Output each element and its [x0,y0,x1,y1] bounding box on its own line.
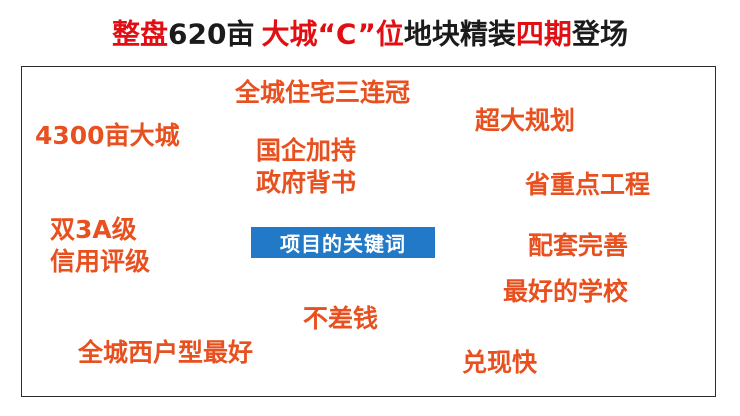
keyword-best-school: 最好的学校 [503,277,628,307]
title-segment-1: 整盘 [112,18,168,51]
keyword-provincial-key-project: 省重点工程 [525,170,650,200]
keyword-line-2: 信用评级 [50,246,150,278]
title-segment-4: 位 [376,18,404,51]
project-keywords-chip-label: 项目的关键词 [280,228,406,257]
poster-canvas: 整盘620亩大城“C”位地块精装四期登场 全城住宅三连冠 4300亩大城 超大规… [0,0,740,416]
title-segment-2: 620亩 [168,18,254,51]
title-segment-7: 登场 [572,18,628,51]
keyword-line-1: 双3A级 [50,214,150,246]
keyword-double-3a-credit-rating: 双3A级 信用评级 [50,214,150,278]
title-segment-6: 四期 [516,18,572,51]
page-title: 整盘620亩大城“C”位地块精装四期登场 [0,13,740,55]
keyword-fast-delivery: 兑现快 [462,348,537,378]
keyword-board: 全城住宅三连冠 4300亩大城 超大规划 国企加持 政府背书 省重点工程 双3A… [21,66,716,397]
keyword-best-west-facing-units: 全城西户型最好 [78,338,253,368]
title-segment-3: 大城“C” [262,18,376,51]
keyword-state-owned-enterprise-backing: 国企加持 政府背书 [256,135,356,199]
keyword-super-large-planning: 超大规划 [475,106,575,136]
keyword-complete-amenities: 配套完善 [528,231,628,261]
keyword-not-short-of-money: 不差钱 [303,304,378,334]
keyword-4300-mu-big-city: 4300亩大城 [35,121,180,151]
keyword-line-2: 政府背书 [256,167,356,199]
keyword-city-residential-triple-champion: 全城住宅三连冠 [235,78,410,108]
project-keywords-chip[interactable]: 项目的关键词 [251,227,435,258]
title-segment-5: 地块精装 [404,18,516,51]
keyword-line-1: 国企加持 [256,135,356,167]
